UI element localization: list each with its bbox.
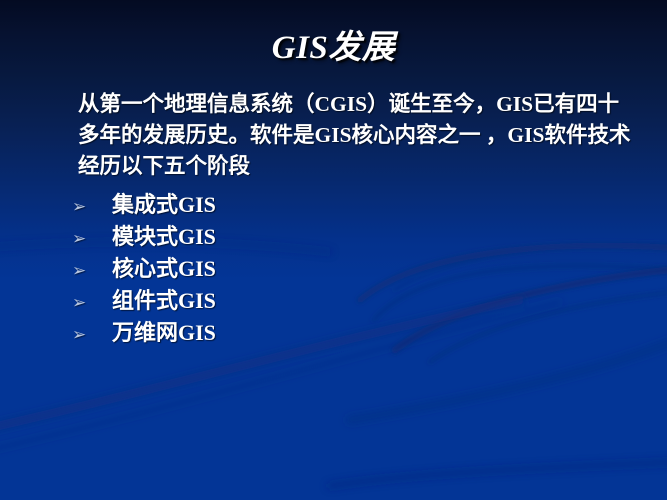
slide-title-container: GIS发展 [0,20,667,68]
list-item-label: 模块式GIS [112,221,216,253]
list-item-label: 万维网GIS [112,317,216,349]
list-item-label: 核心式GIS [112,253,216,285]
chevron-bullet-icon: ➢ [72,191,112,223]
chevron-bullet-icon: ➢ [72,255,112,287]
paragraph-line: 经历以下五个阶段 [78,151,658,182]
paragraph-line: 从第一个地理信息系统（CGIS）诞生至今，GIS已有四十 [78,89,658,120]
list-item: ➢ 集成式GIS [72,189,492,221]
list-item-label: 组件式GIS [112,285,216,317]
slide-paragraph: 从第一个地理信息系统（CGIS）诞生至今，GIS已有四十 多年的发展历史。软件是… [78,89,658,182]
slide-title: GIS发展 [272,20,396,68]
list-item: ➢ 组件式GIS [72,285,492,317]
paragraph-line: 多年的发展历史。软件是GIS核心内容之一 ，GIS软件技术 [78,120,658,151]
list-item: ➢ 核心式GIS [72,253,492,285]
chevron-bullet-icon: ➢ [72,319,112,351]
list-item-label: 集成式GIS [112,189,216,221]
chevron-bullet-icon: ➢ [72,287,112,319]
list-item: ➢ 模块式GIS [72,221,492,253]
chevron-bullet-icon: ➢ [72,223,112,255]
presentation-slide: GIS发展 从第一个地理信息系统（CGIS）诞生至今，GIS已有四十 多年的发展… [0,0,667,500]
list-item: ➢ 万维网GIS [72,317,492,349]
bullet-list: ➢ 集成式GIS ➢ 模块式GIS ➢ 核心式GIS ➢ 组件式GIS ➢ 万维… [72,189,492,349]
